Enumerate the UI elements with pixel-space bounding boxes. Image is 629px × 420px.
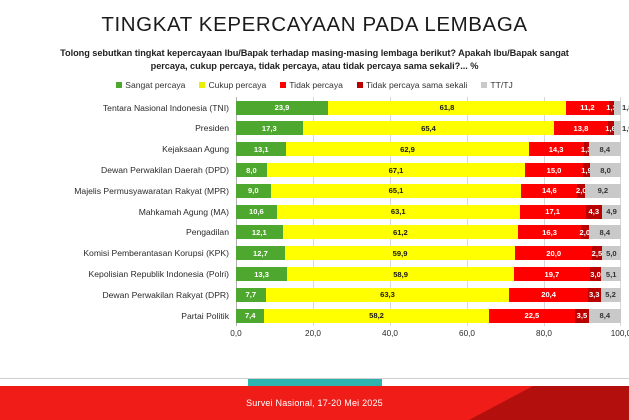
chart-row: Mahkamah Agung (MA)10,663,117,14,34,9 <box>8 201 621 222</box>
chart-x-axis: 0,020,040,060,080,0100,0 <box>0 329 629 343</box>
chart-row-bars: 7,763,320,43,35,2 <box>236 288 621 302</box>
chart-segment: 17,1 <box>520 205 586 219</box>
chart-segment: 65,1 <box>271 184 522 198</box>
chart-segment-value: 5,0 <box>606 249 617 258</box>
chart-row: Dewan Perwakilan Daerah (DPD)8,067,115,0… <box>8 160 621 181</box>
chart-row-bars: 12,161,216,32,08,4 <box>236 225 621 239</box>
chart-segment: 8,4 <box>589 309 621 323</box>
chart-row-bars: 9,065,114,62,09,2 <box>236 184 621 198</box>
chart-segment: 9,0 <box>236 184 271 198</box>
chart-row-label: Mahkamah Agung (MA) <box>8 207 236 217</box>
chart-segment-value: 4,3 <box>589 207 600 216</box>
chart-row-bars: 10,663,117,14,34,9 <box>236 205 621 219</box>
chart-segment-value: 14,3 <box>549 145 564 154</box>
axis-tick-track: 0,020,040,060,080,0100,0 <box>236 329 621 343</box>
chart-segment: 8,0 <box>590 163 621 177</box>
legend-label: Tidak percaya sama sekali <box>366 80 467 90</box>
chart-segment-value: 5,2 <box>605 290 616 299</box>
chart-row-label: Komisi Pemberantasan Korupsi (KPK) <box>8 248 236 258</box>
chart-segment: 4,9 <box>602 205 621 219</box>
chart-segment: 17,3 <box>236 121 303 135</box>
legend-swatch-icon <box>481 82 487 88</box>
survey-question: Tolong sebutkan tingkat kepercayaan Ibu/… <box>0 37 629 74</box>
chart-row-label: Dewan Perwakilan Daerah (DPD) <box>8 165 236 175</box>
chart-segment-value: 20,0 <box>546 249 561 258</box>
chart-row-bars: 23,961,811,21,31,8 <box>236 101 621 115</box>
chart-segment: 9,2 <box>585 184 620 198</box>
chart-row-label: Presiden <box>8 123 236 133</box>
chart-segment-value: 2,5 <box>592 249 603 258</box>
chart-segment: 2,0 <box>581 225 589 239</box>
chart-segment: 13,8 <box>554 121 607 135</box>
footer-teal-tab <box>248 379 382 386</box>
chart-row-bars: 17,365,413,81,61,9 <box>236 121 621 135</box>
chart-segment-value: 9,2 <box>598 186 609 195</box>
chart-segment-value: 63,1 <box>391 207 406 216</box>
chart-segment: 5,2 <box>601 288 621 302</box>
chart-segment-value: 8,4 <box>600 311 611 320</box>
chart-row-bars: 13,358,919,73,05,1 <box>236 267 621 281</box>
chart-segment: 65,4 <box>303 121 555 135</box>
chart-segment: 16,3 <box>518 225 581 239</box>
chart-row-bars: 12,759,920,02,55,0 <box>236 246 621 260</box>
chart-segment-value: 63,3 <box>380 290 395 299</box>
chart-segment-value: 10,6 <box>249 207 264 216</box>
chart-segment-value: 19,7 <box>544 270 559 279</box>
chart-segment-value: 15,0 <box>547 166 562 175</box>
chart-area: Tentara Nasional Indonesia (TNI)23,961,8… <box>0 97 629 326</box>
chart-row-bars: 8,067,115,01,98,0 <box>236 163 621 177</box>
chart-segment-value: 13,8 <box>574 124 589 133</box>
chart-segment: 19,7 <box>514 267 590 281</box>
legend-item[interactable]: Tidak percaya sama sekali <box>357 80 467 90</box>
chart-segment-value: 16,3 <box>542 228 557 237</box>
chart-segment-value: 12,1 <box>252 228 267 237</box>
chart-row: Presiden17,365,413,81,61,9 <box>8 118 621 139</box>
chart-segment-value: 1,8 <box>622 103 629 112</box>
chart-segment: 1,9 <box>583 163 590 177</box>
chart-segment-value: 62,9 <box>400 145 415 154</box>
chart-segment: 8,4 <box>589 225 621 239</box>
chart-segment-value: 59,9 <box>393 249 408 258</box>
chart-segment-value: 8,4 <box>600 145 611 154</box>
chart-segment: 23,9 <box>236 101 328 115</box>
chart-row-label: Kejaksaan Agung <box>8 144 236 154</box>
chart-segment-value: 58,2 <box>369 311 384 320</box>
chart-segment: 1,9 <box>614 121 621 135</box>
chart-segment-value: 65,4 <box>421 124 436 133</box>
axis-tick-label: 20,0 <box>305 329 321 338</box>
chart-segment: 62,9 <box>286 142 528 156</box>
chart-row: Komisi Pemberantasan Korupsi (KPK)12,759… <box>8 243 621 264</box>
axis-tick-label: 40,0 <box>382 329 398 338</box>
chart-segment: 22,5 <box>489 309 576 323</box>
footer-caption: Survei Nasional, 17-20 Mei 2025 <box>0 386 629 420</box>
chart-segment-value: 7,4 <box>245 311 256 320</box>
page-title: TINGKAT KEPERCAYAAN PADA LEMBAGA <box>0 0 629 37</box>
legend-swatch-icon <box>357 82 363 88</box>
axis-tick-label: 100,0 <box>611 329 629 338</box>
chart-segment: 2,5 <box>592 246 602 260</box>
chart-row: Dewan Perwakilan Rakyat (DPR)7,763,320,4… <box>8 284 621 305</box>
chart-segment: 63,1 <box>277 205 520 219</box>
chart-segment-value: 4,9 <box>606 207 617 216</box>
chart-row-label: Pengadilan <box>8 227 236 237</box>
chart-row-bars: 13,162,914,31,38,4 <box>236 142 621 156</box>
chart-segment: 15,0 <box>525 163 583 177</box>
chart-segment-value: 23,9 <box>275 103 290 112</box>
chart-segment: 61,8 <box>328 101 566 115</box>
chart-segment-value: 14,6 <box>542 186 557 195</box>
chart-row: Partai Politik7,458,222,53,58,4 <box>8 305 621 326</box>
chart-segment-value: 61,2 <box>393 228 408 237</box>
legend-swatch-icon <box>280 82 286 88</box>
chart-segment-value: 1,9 <box>622 124 629 133</box>
chart-segment: 14,3 <box>529 142 584 156</box>
chart-segment: 2,0 <box>577 184 585 198</box>
chart-segment-value: 17,3 <box>262 124 277 133</box>
chart-segment-value: 8,0 <box>600 166 611 175</box>
chart-segment: 20,0 <box>515 246 592 260</box>
chart-segment: 67,1 <box>267 163 525 177</box>
chart-segment: 3,5 <box>575 309 588 323</box>
chart-row: Kepolisian Republik Indonesia (Polri)13,… <box>8 264 621 285</box>
chart-segment: 14,6 <box>521 184 577 198</box>
chart-row: Pengadilan12,161,216,32,08,4 <box>8 222 621 243</box>
chart-segment: 13,3 <box>236 267 287 281</box>
chart-segment-value: 13,3 <box>254 270 269 279</box>
chart-row-label: Tentara Nasional Indonesia (TNI) <box>8 103 236 113</box>
chart-segment: 3,0 <box>590 267 602 281</box>
chart-row: Tentara Nasional Indonesia (TNI)23,961,8… <box>8 97 621 118</box>
chart-segment: 7,4 <box>236 309 264 323</box>
chart-segment: 8,4 <box>589 142 621 156</box>
legend-label: Cukup percaya <box>208 80 266 90</box>
chart-segment-value: 11,2 <box>580 103 594 112</box>
chart-segment-value: 5,1 <box>606 270 617 279</box>
chart-legend: Sangat percayaCukup percayaTidak percaya… <box>0 80 629 90</box>
chart-segment: 3,3 <box>588 288 601 302</box>
legend-swatch-icon <box>199 82 205 88</box>
legend-item[interactable]: Tidak percaya <box>280 80 343 90</box>
axis-tick-label: 80,0 <box>536 329 552 338</box>
chart-segment-value: 20,4 <box>541 290 556 299</box>
axis-tick-label: 60,0 <box>459 329 475 338</box>
chart-segment-value: 3,0 <box>590 270 601 279</box>
chart-segment: 58,2 <box>264 309 488 323</box>
chart-segment: 58,9 <box>287 267 514 281</box>
legend-label: Tidak percaya <box>289 80 343 90</box>
chart-segment-value: 22,5 <box>524 311 539 320</box>
chart-segment-value: 65,1 <box>389 186 404 195</box>
legend-label: Sangat percaya <box>125 80 185 90</box>
chart-row: Kejaksaan Agung13,162,914,31,38,4 <box>8 139 621 160</box>
chart-segment-value: 61,8 <box>440 103 455 112</box>
chart-row-bars: 7,458,222,53,58,4 <box>236 309 621 323</box>
chart-segment: 13,1 <box>236 142 286 156</box>
legend-item[interactable]: TT/TJ <box>481 80 512 90</box>
chart-segment: 63,3 <box>266 288 510 302</box>
axis-label-spacer <box>8 329 236 343</box>
chart-segment: 61,2 <box>283 225 519 239</box>
chart-segment: 12,7 <box>236 246 285 260</box>
chart-segment-value: 17,1 <box>545 207 560 216</box>
axis-tick-label: 0,0 <box>230 329 241 338</box>
chart-segment: 59,9 <box>285 246 515 260</box>
chart-segment: 8,0 <box>236 163 267 177</box>
chart-segment: 11,2 <box>566 101 609 115</box>
chart-segment-value: 3,3 <box>589 290 600 299</box>
legend-item[interactable]: Sangat percaya <box>116 80 185 90</box>
legend-item[interactable]: Cukup percaya <box>199 80 266 90</box>
chart-segment-value: 13,1 <box>254 145 269 154</box>
chart-segment-value: 3,5 <box>577 311 588 320</box>
slide-root: TINGKAT KEPERCAYAAN PADA LEMBAGA Tolong … <box>0 0 629 420</box>
chart-segment: 4,3 <box>586 205 603 219</box>
chart-segment: 12,1 <box>236 225 283 239</box>
chart-row-label: Partai Politik <box>8 311 236 321</box>
chart-segment: 20,4 <box>509 288 588 302</box>
chart-segment-value: 7,7 <box>246 290 257 299</box>
chart-row: Majelis Permusyawaratan Rakyat (MPR)9,06… <box>8 180 621 201</box>
chart-segment-value: 8,4 <box>600 228 611 237</box>
legend-swatch-icon <box>116 82 122 88</box>
chart-segment: 1,8 <box>614 101 621 115</box>
chart-segment: 7,7 <box>236 288 266 302</box>
chart-segment: 5,1 <box>601 267 621 281</box>
chart-segment-value: 58,9 <box>393 270 408 279</box>
chart-segment: 10,6 <box>236 205 277 219</box>
chart-row-label: Kepolisian Republik Indonesia (Polri) <box>8 269 236 279</box>
chart-segment-value: 67,1 <box>389 166 404 175</box>
chart-segment: 5,0 <box>602 246 621 260</box>
chart-segment-value: 12,7 <box>253 249 268 258</box>
slide-footer: Survei Nasional, 17-20 Mei 2025 <box>0 378 629 420</box>
chart-rows: Tentara Nasional Indonesia (TNI)23,961,8… <box>8 97 621 326</box>
legend-label: TT/TJ <box>490 80 512 90</box>
chart-row-label: Majelis Permusyawaratan Rakyat (MPR) <box>8 186 236 196</box>
chart-segment-value: 8,0 <box>246 166 257 175</box>
chart-segment-value: 9,0 <box>248 186 259 195</box>
chart-row-label: Dewan Perwakilan Rakyat (DPR) <box>8 290 236 300</box>
